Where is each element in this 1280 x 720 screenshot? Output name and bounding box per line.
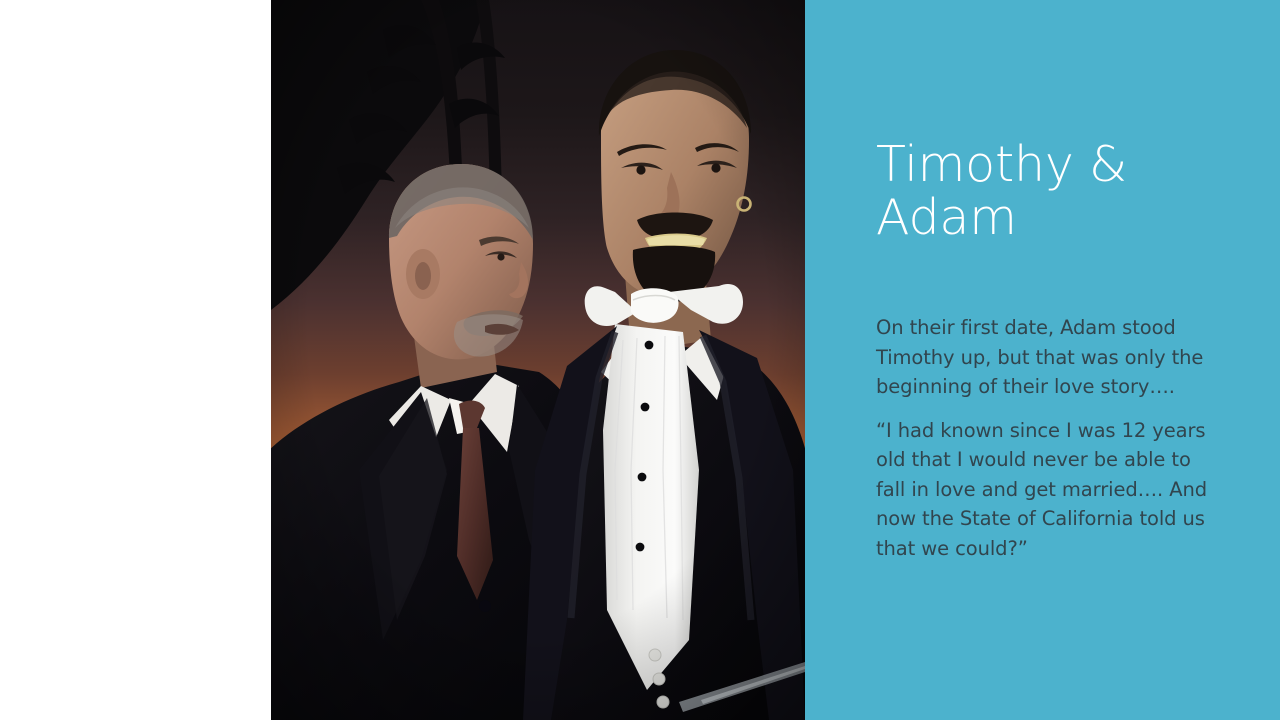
slide-title-line-2: Adam (876, 191, 1256, 244)
left-white-margin (0, 0, 271, 720)
body-paragraph-1: On their first date, Adam stood Timothy … (876, 313, 1224, 402)
body-paragraph-2: “I had known since I was 12 years old th… (876, 416, 1224, 564)
slide-title-line-1: Timothy & (876, 138, 1256, 191)
couple-photograph (271, 0, 805, 720)
photo-vignette (271, 0, 805, 720)
teal-content-panel: Timothy & Adam On their first date, Adam… (805, 0, 1280, 720)
slide-canvas: Timothy & Adam On their first date, Adam… (0, 0, 1280, 720)
photograph-artwork (271, 0, 805, 720)
slide-title: Timothy & Adam (876, 138, 1256, 244)
slide-body: On their first date, Adam stood Timothy … (876, 313, 1224, 563)
